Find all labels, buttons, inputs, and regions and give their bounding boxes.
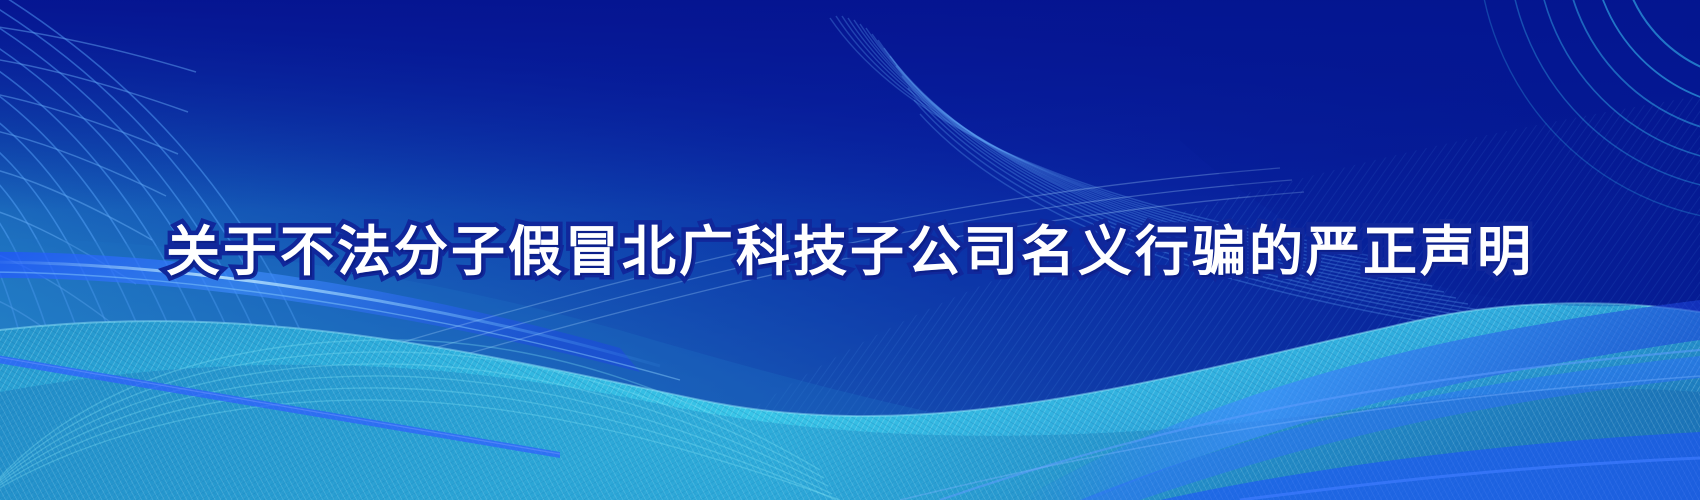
background-artwork [0, 0, 1700, 500]
announcement-banner: 关于不法分子假冒北广科技子公司名义行骗的严正声明 [0, 0, 1700, 500]
